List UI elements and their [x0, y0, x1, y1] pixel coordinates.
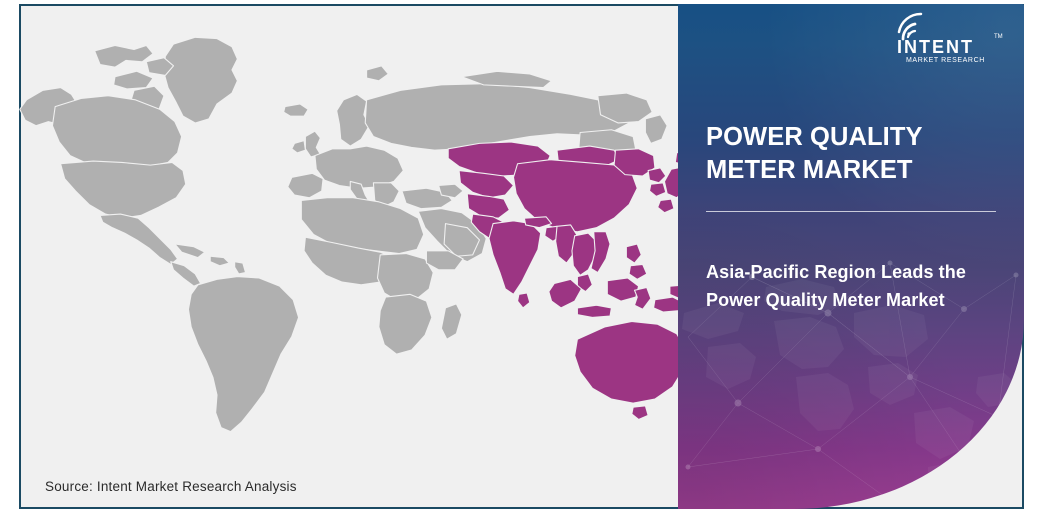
logo-wordmark: INTENT [897, 37, 974, 57]
world-map-area [19, 4, 679, 509]
region-canada-arctic [95, 45, 153, 67]
country-indonesia-sulawesi [635, 288, 651, 310]
region-southern-africa [379, 294, 432, 354]
infographic-root: Source: Intent Market Research Analysis [0, 0, 1043, 513]
title-panel: INTENT TM MARKET RESEARCH POWER QUALITY … [678, 4, 1024, 509]
country-tasmania [632, 406, 648, 420]
region-greenland [164, 37, 237, 123]
region-caucasus [439, 184, 463, 198]
region-iberia [288, 173, 323, 197]
country-south-korea [649, 183, 665, 197]
region-central-africa [377, 254, 433, 302]
region-caribbean-islands [235, 262, 246, 274]
region-south-america [188, 277, 298, 432]
region-mexico [100, 214, 178, 264]
region-hispaniola [210, 256, 229, 266]
title-divider [706, 211, 996, 212]
country-indonesia-east [654, 297, 679, 312]
country-sri-lanka [518, 293, 530, 308]
region-cuba [175, 244, 205, 258]
region-uk [305, 131, 320, 157]
country-japan-kyushu [658, 199, 674, 213]
map-highlighted-landmasses [448, 142, 679, 419]
country-north-korea [648, 168, 666, 183]
region-europe [315, 146, 403, 188]
country-australia [575, 322, 679, 404]
region-ireland [292, 141, 306, 153]
region-iceland [284, 104, 308, 116]
region-svalbard [367, 66, 389, 81]
signal-arc-icon [899, 14, 921, 39]
intent-market-research-logo[interactable]: INTENT TM MARKET RESEARCH [888, 12, 1010, 66]
source-note: Source: Intent Market Research Analysis [45, 479, 297, 494]
country-philippines-luzon [626, 244, 641, 263]
region-usa [61, 161, 186, 218]
region-canada [52, 96, 181, 167]
country-malaysia-borneo [607, 278, 638, 301]
panel-title: POWER QUALITY METER MARKET [706, 121, 1006, 187]
region-madagascar [441, 304, 461, 339]
country-nepal-bhutan [524, 217, 551, 228]
country-philippines-mindanao [629, 264, 647, 279]
country-indonesia-sumatra [549, 279, 582, 308]
region-kamchatka [645, 115, 667, 144]
country-india [489, 221, 541, 294]
logo-tagline: MARKET RESEARCH [906, 57, 985, 64]
logo-trademark: TM [994, 34, 1003, 40]
world-map-svg [19, 14, 679, 474]
country-japan-honshu [664, 166, 679, 197]
country-indonesia-java [577, 305, 611, 317]
region-canada-arctic-2 [114, 71, 153, 89]
region-central-america [171, 262, 201, 286]
region-scandinavia [337, 94, 370, 146]
signal-dot-icon [907, 32, 910, 35]
panel-sheen-overlay [678, 4, 1024, 509]
panel-subtitle: Asia-Pacific Region Leads the Power Qual… [706, 259, 1006, 315]
